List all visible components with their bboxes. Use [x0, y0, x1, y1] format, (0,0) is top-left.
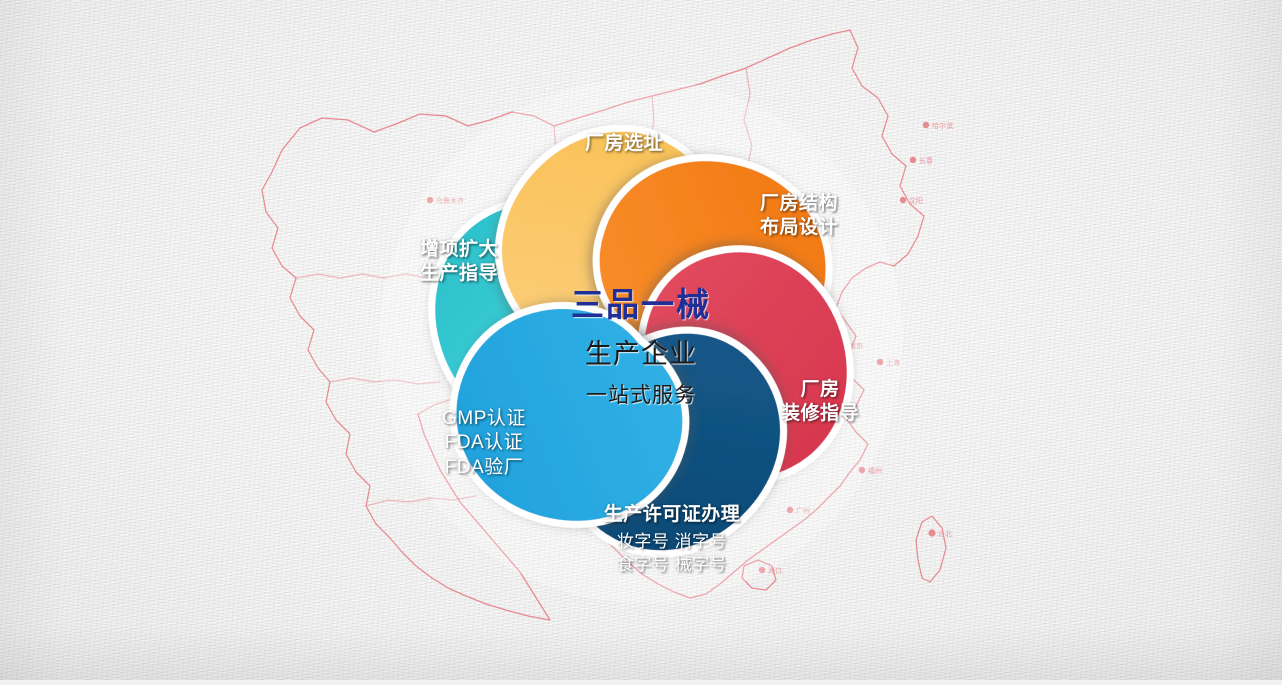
infographic-canvas: 哈尔滨 长春 沈阳 北京 济南 郑州 西安 南京 上海 武汉 成都 长沙 福州 …	[0, 0, 1282, 680]
pinwheel-diagram	[0, 0, 1282, 680]
pinwheel-svg	[0, 0, 1282, 680]
wheel-center-disc	[537, 237, 745, 445]
